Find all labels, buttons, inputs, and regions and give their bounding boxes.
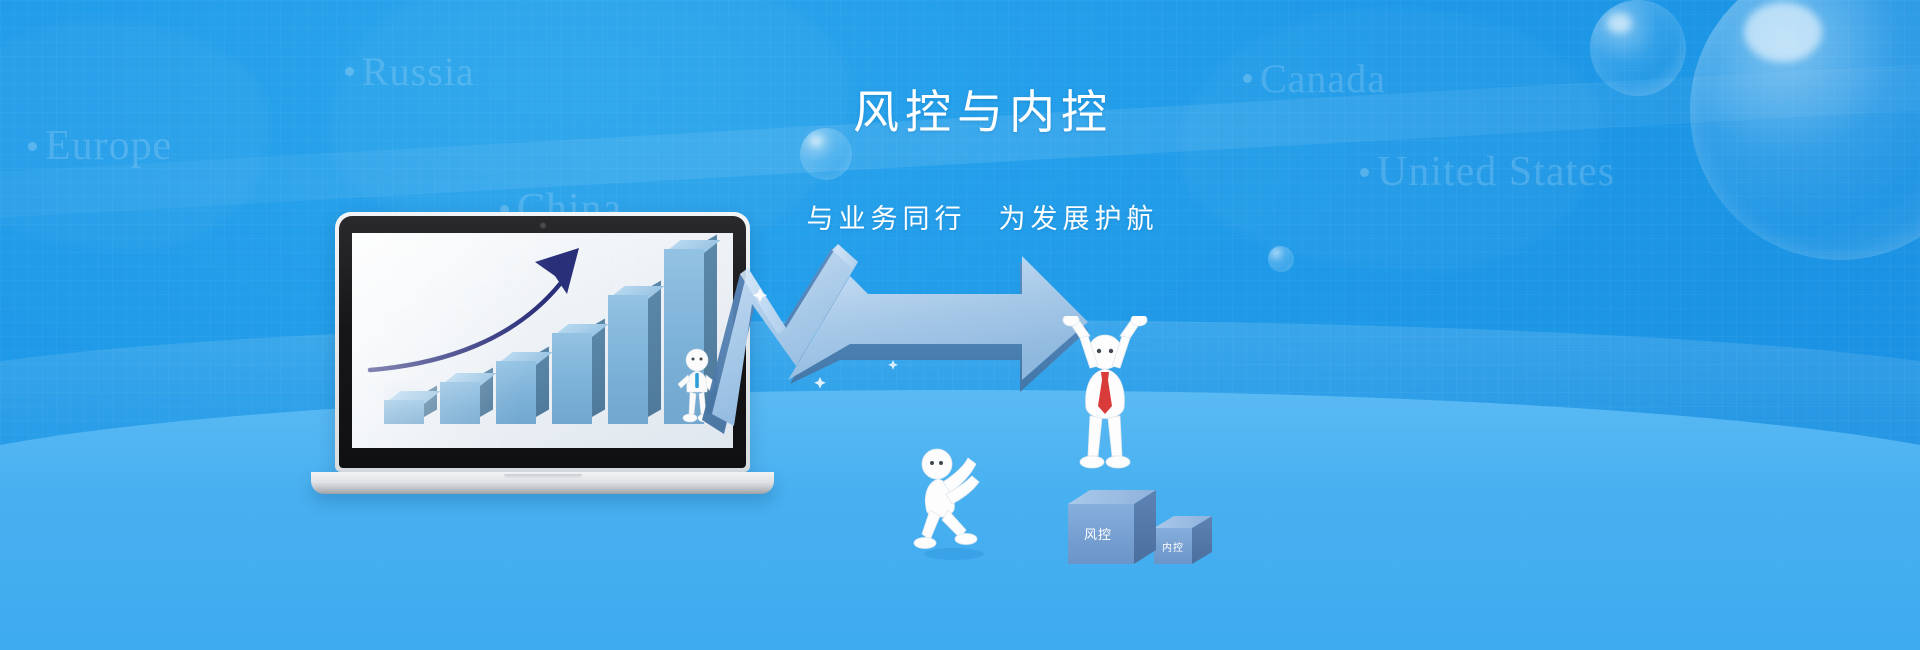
laptop-notch — [504, 474, 582, 479]
geo-label-text: Russia — [362, 48, 475, 95]
laptop-base — [311, 472, 774, 494]
headline-block: 风控与内控 与业务同行 为发展护航 — [720, 86, 1240, 236]
bar-5 — [608, 295, 648, 424]
geo-label-russia: Russia — [345, 48, 475, 95]
laptop-screen — [352, 233, 733, 448]
box-label-fengkong: 风控 — [1084, 524, 1112, 543]
geo-label-text: Europe — [45, 122, 172, 170]
bubble-mid-small — [1268, 246, 1294, 272]
figure-lifting-icon — [1050, 316, 1160, 496]
box-label-neikong: 内控 — [1162, 539, 1184, 554]
laptop-mockup — [335, 212, 750, 472]
figure-pushing-icon — [910, 442, 1002, 560]
bar-chart — [378, 249, 708, 424]
laptop-bezel — [339, 216, 746, 468]
laptop-lid — [335, 212, 750, 472]
webcam-icon — [540, 223, 545, 228]
geo-label-united-states: United States — [1360, 148, 1615, 196]
label-boxes: 风控 内控 — [1062, 484, 1242, 570]
geo-dot-icon — [1360, 168, 1369, 177]
bar-1 — [384, 400, 424, 424]
bubble-right-small — [1590, 0, 1686, 96]
screen-figure-icon — [675, 348, 719, 426]
geo-label-text: Canada — [1260, 55, 1386, 102]
map-blob-namerica — [1180, 10, 1600, 270]
geo-dot-icon — [345, 67, 354, 76]
geo-label-europe: Europe — [28, 122, 172, 170]
page-subtitle: 与业务同行 为发展护航 — [720, 197, 1240, 236]
geo-label-text: United States — [1377, 148, 1615, 196]
geo-dot-icon — [28, 142, 37, 151]
geo-dot-icon — [1243, 74, 1252, 83]
bar-4 — [552, 333, 592, 424]
page-title: 风控与内控 — [720, 86, 1240, 139]
geo-label-canada: Canada — [1243, 55, 1386, 102]
risk-control-banner: RussiaEuropeChinaCanadaUnited States 风控与… — [0, 0, 1920, 650]
bar-3 — [496, 361, 536, 424]
bar-2 — [440, 382, 480, 424]
